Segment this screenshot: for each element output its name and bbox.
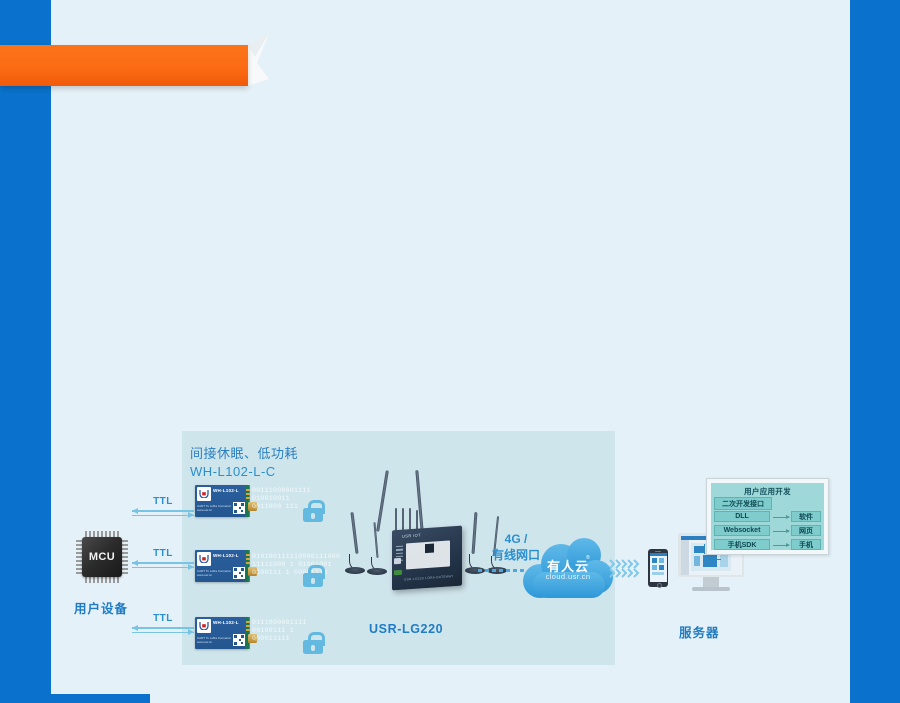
router-brand: USR IOT	[402, 532, 421, 538]
app-row-arrow-3	[773, 545, 789, 546]
smartphone-device	[648, 549, 668, 587]
app-sidebar	[681, 540, 689, 575]
ttl-arrow-left	[132, 627, 194, 629]
app-row-target-webpage: 网页	[791, 525, 821, 536]
router-qr-code	[425, 544, 434, 554]
server-label: 服务器	[679, 622, 720, 641]
ttl-link-1: TTL	[132, 496, 194, 516]
mcu-label: MCU	[82, 537, 122, 577]
lora-module-2: WH-L102-L UART To LoRa Converterwww.usr.…	[195, 550, 257, 582]
data-flow-chevrons	[608, 557, 642, 579]
module-name: WH-L102-L	[213, 553, 239, 558]
lock-icon-1	[303, 500, 323, 522]
app-row-arrow-2	[773, 531, 789, 532]
router-ethernet-port	[394, 558, 401, 564]
secondary-development-interface-label: 二次开发接口	[714, 497, 772, 510]
app-row-source-websocket: Websocket	[714, 525, 770, 536]
monitor-stand	[703, 577, 719, 587]
ttl-arrow-right	[132, 567, 194, 569]
cloud-platform: 有人云 ® cloud.usr.cn	[523, 538, 613, 600]
app-development-panel: 用户应用开发 二次开发接口 DLL 软件 Websocket 网页 手机SDK …	[706, 478, 829, 555]
network-dotted-link	[478, 569, 524, 572]
app-row-source-dll: DLL	[714, 511, 770, 522]
binary-stream-2: 01010011111000011100011111000 1 01001001…	[252, 553, 340, 577]
module-brand-logo	[197, 487, 211, 501]
ttl-arrow-left	[132, 510, 194, 512]
phone-speaker	[655, 551, 661, 552]
ttl-link-3: TTL	[132, 613, 194, 633]
cloud-domain: cloud.usr.cn	[523, 572, 613, 581]
ttl-label: TTL	[132, 496, 194, 507]
app-row-arrow-1	[773, 517, 789, 518]
module-subtitle: UART To LoRa Converterwww.usr.cn	[197, 504, 231, 512]
module-qr-code	[233, 634, 245, 646]
left-blue-bar	[0, 0, 51, 703]
module-name: WH-L102-L	[213, 620, 239, 625]
ttl-arrow-left	[132, 562, 194, 564]
phone-screen	[650, 553, 667, 582]
module-name: WH-L102-L	[213, 488, 239, 493]
lora-module-1: WH-L102-L UART To LoRa Converterwww.usr.…	[195, 485, 257, 517]
diagram-model: WH-L102-L-C	[190, 464, 276, 479]
module-brand-logo	[197, 552, 211, 566]
diagram-headline: 间接休眠、低功耗	[190, 443, 298, 462]
binary-stream-1: 001110000011110100100110011000 111	[252, 487, 311, 511]
monitor-base	[692, 587, 730, 591]
orange-ribbon-banner	[0, 45, 248, 86]
app-panel-title: 用户应用开发	[711, 486, 824, 497]
bottom-blue-strip	[0, 694, 150, 703]
app-row-target-software: 软件	[791, 511, 821, 522]
module-qr-code	[233, 502, 245, 514]
ribbon-fold-corner	[247, 33, 271, 89]
router-label: USR-LG220	[369, 622, 443, 636]
app-row-target-mobile: 手机	[791, 539, 821, 550]
lock-icon-2	[303, 565, 323, 587]
app-panel-inner: 用户应用开发 二次开发接口 DLL 软件 Websocket 网页 手机SDK …	[711, 483, 824, 550]
module-subtitle: UART To LoRa Converterwww.usr.cn	[197, 569, 231, 577]
module-brand-logo	[197, 619, 211, 633]
user-device-label: 用户设备	[74, 598, 128, 617]
ttl-arrow-right	[132, 515, 194, 517]
ttl-arrow-right	[132, 632, 194, 634]
registered-mark-icon: ®	[586, 555, 590, 561]
mcu-chip: MCU	[76, 531, 128, 583]
lock-icon-3	[303, 632, 323, 654]
module-qr-code	[233, 567, 245, 579]
ttl-link-2: TTL	[132, 548, 194, 568]
phone-home-button	[657, 583, 662, 588]
module-subtitle: UART To LoRa Converterwww.usr.cn	[197, 636, 231, 644]
ttl-label: TTL	[132, 548, 194, 559]
ttl-label: TTL	[132, 613, 194, 624]
router-chassis: USR IOT USR-LG220 LORA GATEWAY	[392, 526, 462, 591]
lora-module-3: WH-L102-L UART To LoRa Converterwww.usr.…	[195, 617, 257, 649]
router-power-terminal	[394, 570, 402, 576]
app-row-source-mobile-sdk: 手机SDK	[714, 539, 770, 550]
right-blue-bar	[850, 0, 900, 703]
binary-stream-3: 011100000111100100111 1000011111	[252, 619, 307, 643]
router-model-silk: USR-LG220 LORA GATEWAY	[404, 574, 454, 581]
